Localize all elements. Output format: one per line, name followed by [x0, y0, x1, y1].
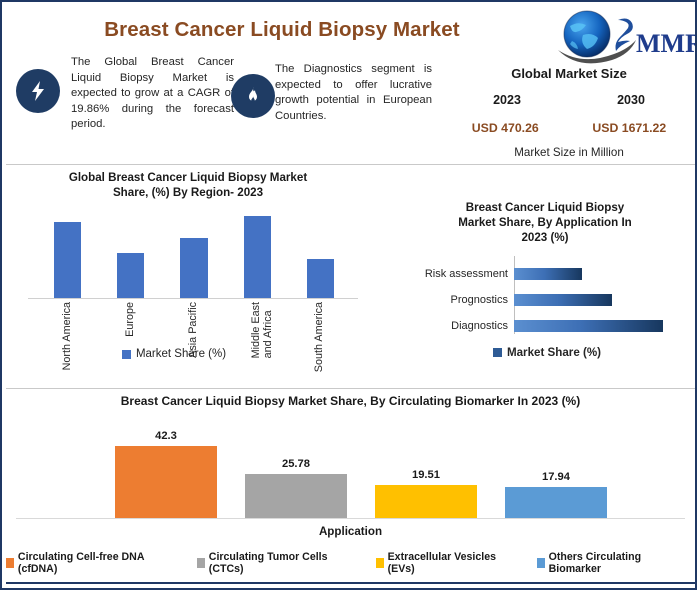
market-size-values: USD 470.26 USD 1671.22: [445, 121, 693, 135]
application-bar: [514, 268, 582, 280]
application-bar-row: Risk assessment: [408, 262, 683, 286]
application-bar-row: Diagnostics: [408, 314, 683, 338]
biomarker-value-label: 17.94: [542, 471, 570, 483]
biomarker-legend-label: Circulating Tumor Cells (CTCs): [209, 551, 364, 575]
biomarker-legend-label: Circulating Cell-free DNA (cfDNA): [18, 551, 185, 575]
biomarker-chart-title: Breast Cancer Liquid Biopsy Market Share…: [6, 394, 695, 409]
application-legend-label: Market Share (%): [507, 346, 601, 359]
legend-swatch-icon: [493, 348, 502, 357]
application-bar-track: [514, 314, 683, 338]
globe-icon: [564, 11, 610, 57]
value-forecast: USD 1671.22: [592, 121, 666, 135]
biomarker-value-label: 25.78: [282, 458, 310, 470]
footer-divider: [6, 582, 695, 584]
biomarker-value-label: 19.51: [412, 469, 440, 481]
application-category-label: Risk assessment: [408, 268, 514, 280]
application-bar-track: [514, 288, 683, 312]
application-legend: Market Share (%): [432, 346, 662, 359]
flame-icon: [231, 74, 275, 118]
biomarker-axis-line: [16, 518, 685, 519]
region-axis-line: [28, 298, 358, 299]
biomarker-legend-label: Others Circulating Biomarker: [549, 551, 695, 575]
region-bar-group: [244, 208, 271, 298]
application-bar: [514, 294, 612, 306]
global-market-size-title: Global Market Size: [445, 66, 693, 81]
application-bar-row: Prognostics: [408, 288, 683, 312]
value-base: USD 470.26: [472, 121, 539, 135]
biomarker-share-chart: Breast Cancer Liquid Biopsy Market Share…: [6, 394, 695, 588]
biomarker-bar-group: 42.3: [115, 418, 216, 518]
header-divider: [6, 164, 695, 165]
region-bar-group: [117, 208, 144, 298]
application-chart-title-line1: Breast Cancer Liquid Biopsy: [410, 200, 680, 215]
region-legend: Market Share (%): [74, 348, 274, 360]
application-chart-title: Breast Cancer Liquid Biopsy Market Share…: [410, 200, 680, 245]
region-bar-group: [180, 208, 207, 298]
legend-swatch-icon: [122, 350, 131, 359]
year-base: 2023: [493, 93, 521, 107]
region-category-label: North America: [61, 302, 73, 370]
market-size-years: 2023 2030: [445, 93, 693, 107]
biomarker-value-label: 42.3: [155, 430, 177, 442]
region-legend-label: Market Share (%): [136, 348, 226, 360]
legend-swatch-icon: [6, 558, 14, 568]
biomarker-legend-label: Extracellular Vesicles (EVs): [388, 551, 525, 575]
legend-swatch-icon: [537, 558, 545, 568]
biomarker-bar-group: 25.78: [245, 418, 346, 518]
region-category-label: Middle East and Africa: [250, 302, 274, 358]
application-bar-track: [514, 262, 683, 286]
region-bar: [180, 238, 207, 298]
region-category-label: Europe: [124, 302, 136, 337]
info-text-segment: The Diagnostics segment is expected to o…: [275, 62, 432, 124]
mmr-logo: MMR: [550, 8, 696, 70]
biomarker-bar-group: 17.94: [505, 418, 606, 518]
section-divider: [6, 388, 695, 389]
region-bar-group: [54, 208, 81, 298]
lightning-bolt-icon: [16, 69, 60, 113]
biomarker-legend-item: Others Circulating Biomarker: [537, 551, 695, 575]
region-category-label: South America: [313, 302, 325, 372]
region-share-chart: Global Breast Cancer Liquid Biopsy Marke…: [14, 170, 362, 385]
market-size-unit-note: Market Size in Million: [445, 146, 693, 159]
region-bar: [54, 222, 81, 299]
logo-text: MMR: [636, 29, 696, 58]
region-chart-title-line2: Share, (%) By Region- 2023: [22, 185, 354, 200]
biomarker-xaxis-label: Application: [6, 525, 695, 538]
application-plot-area: Risk assessmentPrognosticsDiagnostics: [408, 262, 683, 340]
region-bar-group: [307, 208, 334, 298]
region-bar: [117, 253, 144, 298]
biomarker-bar: [115, 446, 216, 518]
info-text-cagr: The Global Breast Cancer Liquid Biopsy M…: [71, 55, 234, 133]
application-category-label: Diagnostics: [408, 320, 514, 332]
page-title: Breast Cancer Liquid Biopsy Market: [2, 18, 562, 42]
biomarker-bar: [245, 474, 346, 518]
region-bar: [307, 259, 334, 298]
legend-swatch-icon: [376, 558, 384, 568]
region-category-label: Asia Pacific: [187, 302, 199, 358]
header-section: Breast Cancer Liquid Biopsy Market: [2, 2, 695, 164]
region-bar: [244, 216, 271, 298]
biomarker-bar: [375, 485, 476, 518]
biomarker-bar: [505, 487, 606, 518]
biomarker-plot-area: 42.325.7819.5117.94: [101, 418, 621, 518]
biomarker-legend-item: Circulating Cell-free DNA (cfDNA): [6, 551, 185, 575]
application-chart-title-line2: Market Share, By Application In: [410, 215, 680, 230]
biomarker-legend-item: Circulating Tumor Cells (CTCs): [197, 551, 364, 575]
infographic-page: Breast Cancer Liquid Biopsy Market: [0, 0, 697, 590]
biomarker-bar-group: 19.51: [375, 418, 476, 518]
global-market-size-panel: Global Market Size 2023 2030 USD 470.26 …: [445, 66, 693, 159]
legend-swatch-icon: [197, 558, 205, 568]
application-bar: [514, 320, 663, 332]
biomarker-legend: Circulating Cell-free DNA (cfDNA)Circula…: [6, 551, 695, 575]
application-chart-title-line3: 2023 (%): [410, 230, 680, 245]
application-category-label: Prognostics: [408, 294, 514, 306]
year-forecast: 2030: [617, 93, 645, 107]
region-plot-area: [36, 208, 352, 298]
region-chart-title-line1: Global Breast Cancer Liquid Biopsy Marke…: [22, 170, 354, 185]
application-share-chart: Breast Cancer Liquid Biopsy Market Share…: [402, 200, 692, 385]
biomarker-legend-item: Extracellular Vesicles (EVs): [376, 551, 525, 575]
region-chart-title: Global Breast Cancer Liquid Biopsy Marke…: [22, 170, 354, 200]
